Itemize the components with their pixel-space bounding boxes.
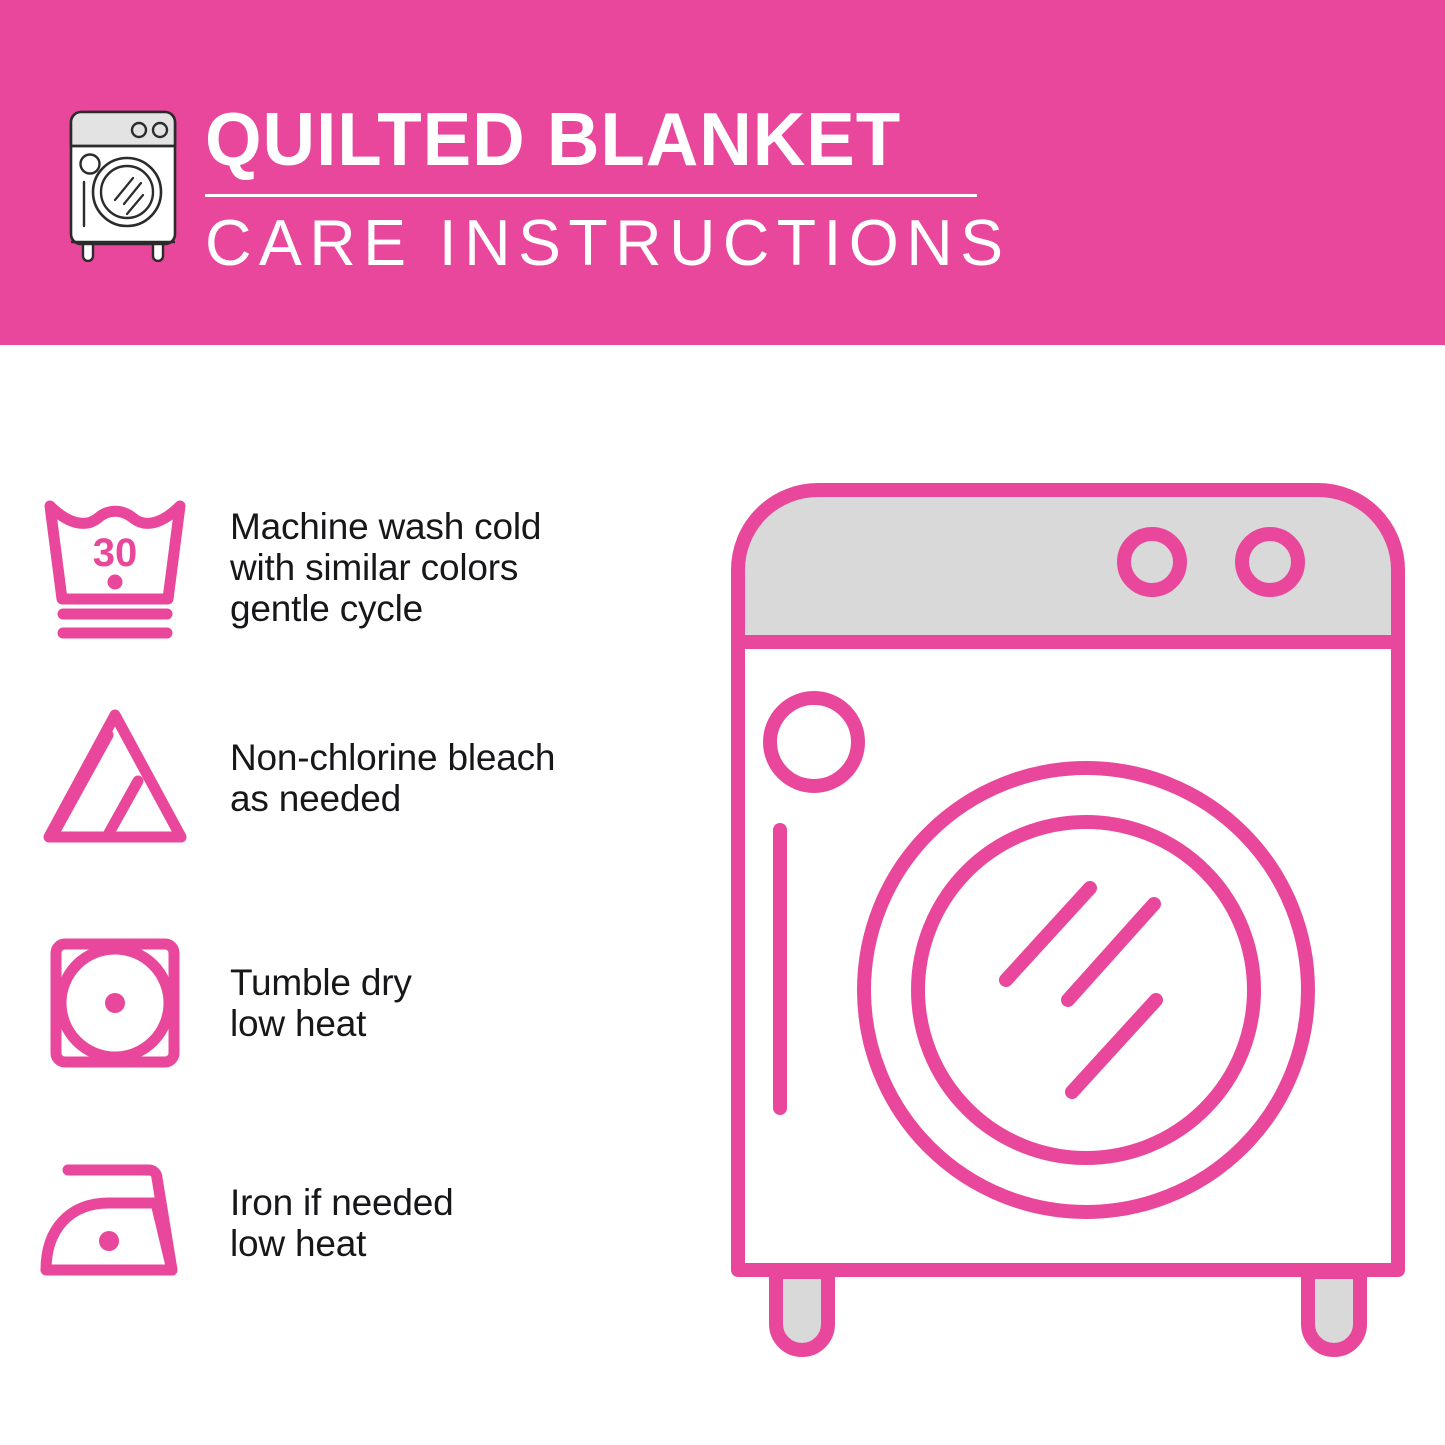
wash-tub-30-icon: 30 <box>0 494 230 642</box>
care-text-tumble-dry: Tumble dry low heat <box>230 962 700 1044</box>
care-row-bleach: Non-chlorine bleach as needed <box>0 690 700 865</box>
care-text-line: with similar colors <box>230 547 700 588</box>
care-row-wash: 30 Machine wash cold with similar colors… <box>0 475 700 660</box>
leg-right <box>1308 1272 1360 1350</box>
care-instructions-list: 30 Machine wash cold with similar colors… <box>0 345 700 1445</box>
page-title: QUILTED BLANKET <box>205 98 971 180</box>
iron-low-heat-icon <box>0 1158 230 1288</box>
title-divider <box>205 194 977 197</box>
care-text-line: Iron if needed <box>230 1182 700 1223</box>
leg-left <box>776 1272 828 1350</box>
care-text-line: Machine wash cold <box>230 506 700 547</box>
care-row-iron: Iron if needed low heat <box>0 1135 700 1310</box>
care-text-iron: Iron if needed low heat <box>230 1182 700 1264</box>
care-text-line: gentle cycle <box>230 588 700 629</box>
detergent-port-icon <box>770 698 858 786</box>
header-title-group: QUILTED BLANKET CARE INSTRUCTIONS <box>205 98 995 279</box>
care-text-line: Non-chlorine bleach <box>230 737 700 778</box>
washing-machine-icon <box>57 104 189 262</box>
care-text-wash: Machine wash cold with similar colors ge… <box>230 506 700 629</box>
care-text-line: Tumble dry <box>230 962 700 1003</box>
care-text-line: as needed <box>230 778 700 819</box>
care-text-line: low heat <box>230 1223 700 1264</box>
bleach-triangle-icon <box>0 705 230 850</box>
front-load-washing-machine-illustration <box>718 470 1418 1370</box>
page-subtitle: CARE INSTRUCTIONS <box>205 207 987 279</box>
care-text-line: low heat <box>230 1003 700 1044</box>
door-reflection-lines <box>1006 888 1156 1092</box>
wash-temperature-label: 30 <box>93 531 138 575</box>
header-banner: QUILTED BLANKET CARE INSTRUCTIONS <box>0 0 1445 345</box>
care-row-tumble-dry: Tumble dry low heat <box>0 915 700 1090</box>
care-text-bleach: Non-chlorine bleach as needed <box>230 737 700 819</box>
tumble-dry-low-icon <box>0 933 230 1073</box>
